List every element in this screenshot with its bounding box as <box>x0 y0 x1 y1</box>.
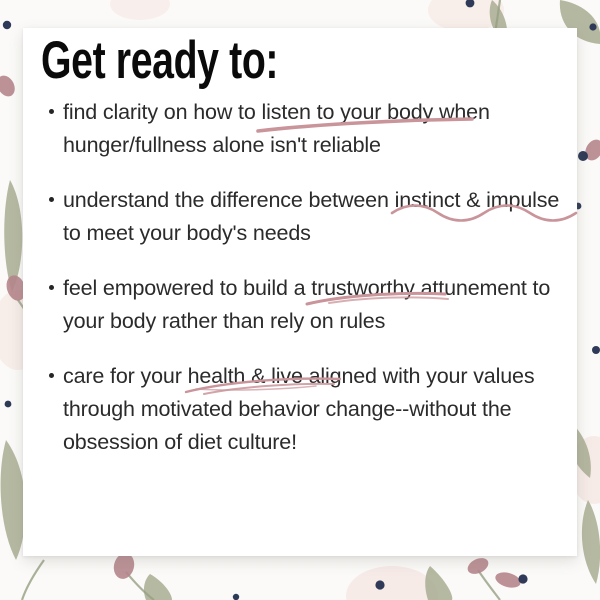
list-item: care for your health & live aligned with… <box>39 360 569 459</box>
highlight-text: health & <box>188 364 266 388</box>
text-segment: care for your <box>63 364 188 388</box>
highlight-listen-to-your-body: listen to your body <box>262 100 434 124</box>
text-segment: feel empowered to build a <box>63 276 311 300</box>
highlight-instinct-and-impulse: instinct & impulse <box>395 188 560 212</box>
slide-canvas: Get ready to: find clarity on how to lis… <box>0 0 600 600</box>
list-item-text: care for your health & live aligned with… <box>63 360 569 459</box>
text-segment: find clarity on how to <box>63 100 262 124</box>
text-segment: understand the difference between <box>63 188 395 212</box>
text-segment: to meet your body's needs <box>63 221 311 245</box>
benefits-list: find clarity on how to listen to your bo… <box>39 96 569 481</box>
page-title: Get ready to: <box>41 32 278 90</box>
highlight-trustworthy: trustworthy <box>311 276 415 300</box>
bullet-marker-icon <box>39 96 63 114</box>
highlight-text: listen to your body <box>262 100 434 124</box>
content-card: Get ready to: find clarity on how to lis… <box>23 28 577 556</box>
highlight-health-and: health & <box>188 364 266 388</box>
list-item-text: feel empowered to build a trustworthy at… <box>63 272 569 338</box>
highlight-text: instinct & impulse <box>395 188 560 212</box>
bullet-marker-icon <box>39 272 63 290</box>
bullet-marker-icon <box>39 360 63 378</box>
highlight-text: trustworthy <box>311 276 415 300</box>
list-item-text: find clarity on how to listen to your bo… <box>63 96 569 162</box>
card-inner: Get ready to: find clarity on how to lis… <box>23 28 577 556</box>
list-item: find clarity on how to listen to your bo… <box>39 96 569 162</box>
list-item-text: understand the difference between instin… <box>63 184 569 250</box>
list-item: understand the difference between instin… <box>39 184 569 250</box>
list-item: feel empowered to build a trustworthy at… <box>39 272 569 338</box>
bullet-marker-icon <box>39 184 63 202</box>
